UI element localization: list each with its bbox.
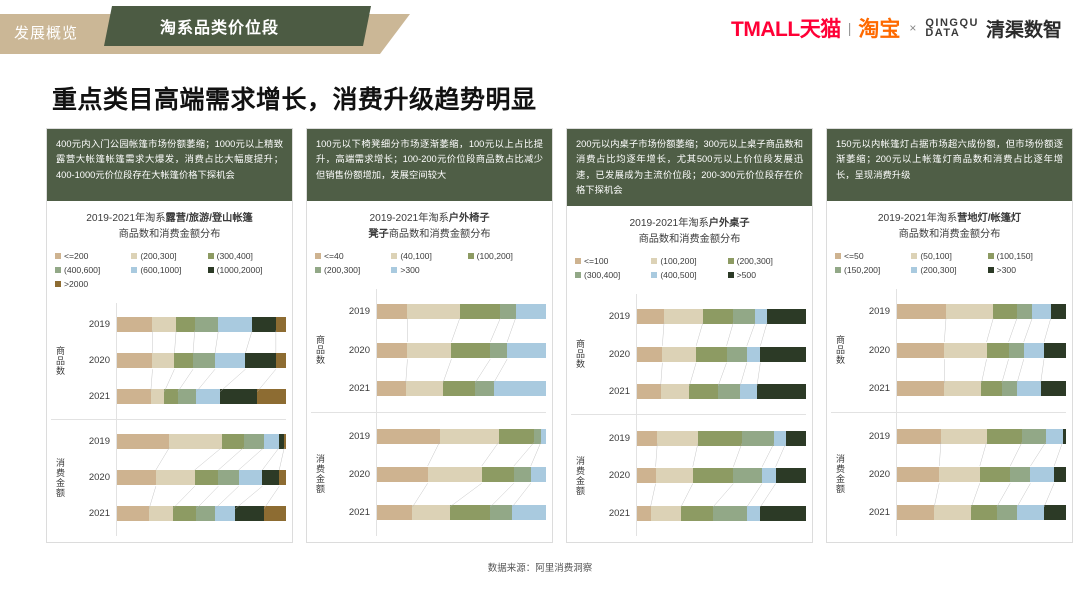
bar-segment[interactable] [713,506,747,521]
legend-item[interactable]: <=40 [315,251,391,261]
panel-insight-note: 150元以内帐篷灯占据市场超六成份额，但市场份额逐渐萎缩；200元以上帐篷灯商品… [827,129,1072,201]
stacked-bar [117,317,286,332]
bar-segment[interactable] [987,429,1022,444]
bar-segment[interactable] [733,309,755,324]
bar-segment[interactable] [981,381,1001,396]
bar-segment[interactable] [698,431,742,446]
chart-title: 2019-2021年淘系营地灯/帐篷灯商品数和消费金额分布 [827,201,1072,247]
chart-title-prefix: 2019-2021年淘系 [369,213,448,224]
panel-insight-note: 200元以内桌子市场份额萎缩；300元以上桌子商品数和消费占比均逐年增长，尤其5… [567,129,812,206]
legend-swatch-icon [911,267,917,273]
bar-segment[interactable] [152,353,174,368]
chart-title-line2: 商品数和消费金额分布 [833,227,1066,243]
legend-label: >300 [997,265,1016,275]
legend-label: (300,400] [584,270,620,280]
legend-item[interactable]: <=50 [835,251,911,261]
bar-segment[interactable] [1002,381,1017,396]
chart-title-suffix: 商品数和消费金额分布 [899,229,1001,240]
bar-segment[interactable] [534,429,541,444]
bar-segment[interactable] [406,381,443,396]
bar-segment[interactable] [637,309,664,324]
bar-segment[interactable] [718,384,740,399]
bar-segment[interactable] [762,468,776,483]
bar-segment[interactable] [664,309,703,324]
bar-segment[interactable] [149,506,173,521]
bar-segment[interactable] [195,317,219,332]
bar-segment[interactable] [1051,304,1066,319]
legend-label: (200,300] [737,256,773,266]
bar-segment[interactable] [657,431,698,446]
year-tick-label: 2020 [587,457,636,495]
legend-item[interactable]: >300 [391,265,467,275]
bar-segment[interactable] [252,317,276,332]
year-tick-label: 2019 [847,293,896,331]
legend-item[interactable]: (50,100] [911,251,987,261]
bar-segment[interactable] [117,353,152,368]
bar-segment[interactable] [980,467,1010,482]
bar-segment[interactable] [997,505,1017,520]
bar-segment[interactable] [774,431,786,446]
legend-item[interactable]: (200,300] [728,256,804,266]
legend-swatch-icon [131,253,137,259]
legend-label: (100,200] [660,256,696,266]
bar-segment[interactable] [262,470,279,485]
bar-segment[interactable] [897,343,944,358]
bar-segment[interactable] [1046,429,1063,444]
bar-segment[interactable] [440,429,499,444]
bar-segment[interactable] [117,470,156,485]
bar-segment[interactable] [733,468,762,483]
table-row [377,369,546,407]
chart-panels: 400元内入门公园帐篷市场份额萎缩；1000元以上精致露营大帐篷帐篷需求大爆发，… [46,128,1073,543]
legend-label: (400,500] [660,270,696,280]
bar-segment[interactable] [897,381,944,396]
bar-segment[interactable] [941,429,987,444]
logo-cross-icon: × [909,21,916,35]
bars-group [637,294,806,415]
bar-segment[interactable] [377,467,428,482]
bar-segment[interactable] [196,506,215,521]
bar-segment[interactable] [276,317,286,332]
chart-title: 2019-2021年淘系户外椅子凳子商品数和消费金额分布 [307,201,552,247]
legend-item[interactable]: >300 [988,265,1064,275]
table-row [377,331,546,369]
bar-segment[interactable] [218,317,252,332]
legend-swatch-icon [208,267,214,273]
bar-segment[interactable] [946,304,993,319]
chart-plot-area: 商品数201920202021消费金额201920202021 [567,290,812,542]
bar-segment[interactable] [377,505,412,520]
stacked-bar [377,505,546,520]
year-tick-label: 2021 [327,369,376,407]
legend-swatch-icon [131,267,137,273]
bar-segment[interactable] [475,381,494,396]
bar-segment[interactable] [450,505,491,520]
stacked-bar [377,429,546,444]
bar-segment[interactable] [944,343,986,358]
bars-group [897,289,1066,412]
table-row [637,373,806,411]
bar-segment[interactable] [169,434,221,449]
logo-divider: | [848,20,852,36]
stacked-bar [377,381,546,396]
bar-segment[interactable] [767,309,806,324]
stacked-bar [897,505,1066,520]
table-row [117,424,286,460]
bar-segment[interactable] [747,347,761,362]
legend-item[interactable]: (100,200] [468,251,544,261]
chart-title-suffix: 商品数和消费金额分布 [119,229,221,240]
legend-label: <=40 [324,251,344,261]
bar-segment[interactable] [151,389,165,404]
year-tick-label: 2021 [587,495,636,533]
chart-title-suffix: 商品数和消费金额分布 [639,234,741,245]
bar-segment[interactable] [1017,381,1041,396]
chart-plot-area: 商品数201920202021消费金额201920202021 [47,299,292,542]
bar-segment[interactable] [531,467,546,482]
legend-label: >500 [737,270,756,280]
axis-group-label: 商品数 [51,346,67,376]
bar-segment[interactable] [152,317,176,332]
table-row [117,343,286,379]
stacked-bar [637,506,806,521]
legend-item[interactable]: (400,500] [651,270,727,280]
bar-segment[interactable] [693,468,734,483]
bar-segment[interactable] [516,304,546,319]
legend-item[interactable]: (100,200] [651,256,727,266]
bar-segment[interactable] [377,304,407,319]
section-tab-label[interactable]: 发展概览 [14,22,78,43]
chart-legend: <=40(40,100](100,200](200,300]>300 [307,247,552,285]
bar-segment[interactable] [939,467,980,482]
bar-segment[interactable] [264,506,286,521]
chart-bars [637,294,806,536]
year-tick-labels: 201920202021 [847,413,896,536]
year-tick-label: 2020 [327,455,376,493]
year-tick-label: 2019 [327,417,376,455]
stacked-bar [377,343,546,358]
table-row [377,417,546,455]
bar-segment[interactable] [541,429,546,444]
bar-segment[interactable] [637,347,662,362]
stacked-bar [117,506,286,521]
stacked-bar [117,434,286,449]
legend-label: (40,100] [400,251,432,261]
axis-group: 消费金额201920202021 [571,414,636,536]
legend-swatch-icon [391,253,397,259]
bar-segment[interactable] [173,506,197,521]
axis-group: 消费金额201920202021 [51,419,116,536]
chart-bars [897,289,1066,536]
chart-title: 2019-2021年淘系露营/旅游/登山帐篷商品数和消费金额分布 [47,201,292,247]
legend-item[interactable]: (200,300] [131,251,207,261]
chart-title-prefix: 2019-2021年淘系 [629,218,708,229]
axis-group: 商品数201920202021 [311,289,376,412]
legend-swatch-icon [651,272,657,278]
chart-y-axis: 商品数201920202021消费金额201920202021 [51,303,117,536]
bar-segment[interactable] [1024,343,1044,358]
bar-segment[interactable] [1009,343,1024,358]
bar-segment[interactable] [755,309,767,324]
bar-segment[interactable] [218,470,238,485]
table-row [897,494,1066,532]
bar-segment[interactable] [176,317,195,332]
legend-item[interactable]: >2000 [55,279,131,289]
bar-segment[interactable] [656,468,693,483]
bar-segment[interactable] [178,389,197,404]
bar-segment[interactable] [377,381,406,396]
bar-segment[interactable] [284,434,286,449]
table-row [897,293,1066,331]
bar-segment[interactable] [117,506,149,521]
bar-segment[interactable] [1017,505,1044,520]
bar-segment[interactable] [1017,304,1032,319]
axis-group-label: 商品数 [831,335,847,365]
bar-segment[interactable] [443,381,475,396]
bar-segment[interactable] [1054,467,1066,482]
legend-label: (100,200] [477,251,513,261]
bar-segment[interactable] [428,467,482,482]
bar-segment[interactable] [235,506,264,521]
chart-title: 2019-2021年淘系户外桌子商品数和消费金额分布 [567,206,812,252]
bar-segment[interactable] [460,304,501,319]
bar-segment[interactable] [637,506,651,521]
bar-segment[interactable] [661,384,690,399]
year-tick-label: 2019 [847,417,896,455]
table-row [897,417,1066,455]
bar-segment[interactable] [239,470,263,485]
chart-title-category2: 凳子 [368,229,388,240]
legend-label: (200,300] [140,251,176,261]
bar-segment[interactable] [637,468,656,483]
bar-segment[interactable] [245,353,275,368]
legend-item[interactable]: (1000,2000] [208,265,284,275]
axis-group: 消费金额201920202021 [831,412,896,536]
bar-segment[interactable] [1030,467,1054,482]
bar-segment[interactable] [507,343,546,358]
bar-segment[interactable] [681,506,713,521]
stacked-bar [377,304,546,319]
bar-segment[interactable] [514,467,531,482]
legend-label: (600,1000] [140,265,181,275]
chart-legend: <=100(100,200](200,300](300,400](400,500… [567,252,812,290]
year-tick-labels: 201920202021 [587,415,636,536]
taobao-logo: 淘宝 [858,13,900,43]
bar-segment[interactable] [412,505,449,520]
bar-segment[interactable] [786,431,806,446]
year-tick-label: 2020 [587,335,636,373]
chart-panel: 150元以内帐篷灯占据市场超六成份额，但市场份额逐渐萎缩；200元以上帐篷灯商品… [826,128,1073,543]
bar-segment[interactable] [637,431,657,446]
bar-segment[interactable] [215,506,235,521]
chart-title-line2: 凳子商品数和消费金额分布 [313,227,546,243]
bar-segment[interactable] [689,384,718,399]
bar-segment[interactable] [494,381,546,396]
year-tick-label: 2019 [587,419,636,457]
bar-segment[interactable] [897,429,941,444]
stacked-bar [637,468,806,483]
bar-segment[interactable] [500,304,515,319]
bar-segment[interactable] [740,384,757,399]
bar-segment[interactable] [490,505,512,520]
chart-title-line2: 商品数和消费金额分布 [53,227,286,243]
table-row [897,455,1066,493]
bar-segment[interactable] [757,384,806,399]
chart-title-line1: 2019-2021年淘系露营/旅游/登山帐篷 [53,211,286,227]
bar-segment[interactable] [244,434,264,449]
bar-segment[interactable] [776,468,806,483]
bar-segment[interactable] [222,434,244,449]
table-row [637,419,806,457]
legend-item[interactable]: (600,1000] [131,265,207,275]
bar-segment[interactable] [490,343,507,358]
chart-title-category: 户外桌子 [709,218,750,229]
legend-item[interactable]: (40,100] [391,251,467,261]
bar-segment[interactable] [971,505,996,520]
bar-segment[interactable] [760,347,806,362]
bar-segment[interactable] [1010,467,1030,482]
stacked-bar [637,384,806,399]
bar-segment[interactable] [1063,429,1066,444]
bar-segment[interactable] [193,353,215,368]
table-row [377,293,546,331]
bar-segment[interactable] [703,309,733,324]
bar-segment[interactable] [195,470,219,485]
legend-item[interactable]: <=100 [575,256,651,266]
bar-segment[interactable] [164,389,178,404]
panel-insight-note: 100元以下椅凳细分市场逐渐萎缩，100元以上占比提升，高端需求增长；100-2… [307,129,552,201]
bar-segment[interactable] [407,343,451,358]
bar-segment[interactable] [1044,343,1066,358]
axis-group-label: 消费金额 [571,456,587,496]
bar-segment[interactable] [499,429,534,444]
chart-title-line1: 2019-2021年淘系户外桌子 [573,216,806,232]
bar-segment[interactable] [1022,429,1046,444]
legend-item[interactable]: >500 [728,270,804,280]
bar-segment[interactable] [760,506,806,521]
chart-title-category: 营地灯/帐篷灯 [957,213,1021,224]
bar-segment[interactable] [696,347,726,362]
axis-group-label: 消费金额 [51,458,67,498]
chart-legend: <=200(200,300](300,400](400,600](600,100… [47,247,292,299]
bars-group [377,412,546,536]
bar-segment[interactable] [196,389,220,404]
year-tick-labels: 201920202021 [67,303,116,419]
bar-segment[interactable] [897,304,946,319]
bar-segment[interactable] [897,505,934,520]
page-header: 发展概览 淘系品类价位段 TMALL天猫 | 淘宝 × QINGQU DATA … [0,0,1080,60]
legend-label: >2000 [64,279,88,289]
bar-segment[interactable] [637,384,661,399]
bar-segment[interactable] [747,506,761,521]
year-tick-label: 2021 [847,369,896,407]
legend-item[interactable]: (200,300] [315,265,391,275]
chart-panel: 400元内入门公园帐篷市场份额萎缩；1000元以上精致露营大帐篷帐篷需求大爆发，… [46,128,293,543]
bar-segment[interactable] [279,470,286,485]
bar-segment[interactable] [276,353,286,368]
stacked-bar [117,353,286,368]
axis-group: 商品数201920202021 [571,294,636,415]
bar-segment[interactable] [987,343,1009,358]
legend-item[interactable]: (100,150] [988,251,1064,261]
bar-segment[interactable] [727,347,747,362]
axis-group: 商品数201920202021 [51,303,116,419]
bar-segment[interactable] [897,467,939,482]
legend-item[interactable]: (300,400] [208,251,284,261]
bars-group [377,289,546,412]
year-tick-label: 2019 [587,298,636,336]
bar-segment[interactable] [156,470,195,485]
bar-segment[interactable] [651,506,681,521]
bar-segment[interactable] [1041,381,1066,396]
legend-swatch-icon [55,281,61,287]
bar-segment[interactable] [742,431,774,446]
axis-group-label: 商品数 [311,335,327,365]
bar-segment[interactable] [512,505,546,520]
legend-swatch-icon [911,253,917,259]
legend-label: <=100 [584,256,608,266]
bar-segment[interactable] [117,389,151,404]
chart-title-category: 户外椅子 [449,213,490,224]
bar-segment[interactable] [215,353,245,368]
chart-legend: <=50(50,100](100,150](150,200](200,300]>… [827,247,1072,285]
bar-segment[interactable] [482,467,514,482]
bar-segment[interactable] [117,317,152,332]
bar-segment[interactable] [117,434,169,449]
bar-segment[interactable] [220,389,257,404]
bar-segment[interactable] [174,353,193,368]
legend-swatch-icon [728,272,734,278]
legend-item[interactable]: (300,400] [575,270,651,280]
table-row [897,331,1066,369]
legend-swatch-icon [315,253,321,259]
chart-y-axis: 商品数201920202021消费金额201920202021 [311,289,377,536]
bar-segment[interactable] [264,434,279,449]
panel-insight-note: 400元内入门公园帐篷市场份额萎缩；1000元以上精致露营大帐篷帐篷需求大爆发，… [47,129,292,201]
bar-segment[interactable] [377,343,407,358]
legend-label: (100,150] [997,251,1033,261]
legend-item[interactable]: (150,200] [835,265,911,275]
bars-group [117,303,286,419]
legend-swatch-icon [988,253,994,259]
bar-segment[interactable] [377,429,440,444]
bar-segment[interactable] [257,389,286,404]
legend-swatch-icon [208,253,214,259]
bar-segment[interactable] [1032,304,1051,319]
table-row [897,369,1066,407]
bar-segment[interactable] [944,381,981,396]
bar-segment[interactable] [1044,505,1066,520]
bar-segment[interactable] [934,505,971,520]
year-tick-labels: 201920202021 [327,413,376,536]
chart-title-line1: 2019-2021年淘系营地灯/帐篷灯 [833,211,1066,227]
legend-item[interactable]: (200,300] [911,265,987,275]
table-row [117,307,286,343]
stacked-bar [117,470,286,485]
bar-segment[interactable] [451,343,490,358]
stacked-bar [377,467,546,482]
legend-item[interactable]: <=200 [55,251,131,261]
bar-segment[interactable] [407,304,459,319]
year-tick-label: 2020 [327,331,376,369]
bar-segment[interactable] [993,304,1017,319]
chart-title-suffix: 商品数和消费金额分布 [389,229,491,240]
bar-segment[interactable] [662,347,696,362]
table-row [637,335,806,373]
qingqu-cn-logo: 清渠数智 [986,15,1062,42]
stacked-bar [897,304,1066,319]
legend-item[interactable]: (400,600] [55,265,131,275]
